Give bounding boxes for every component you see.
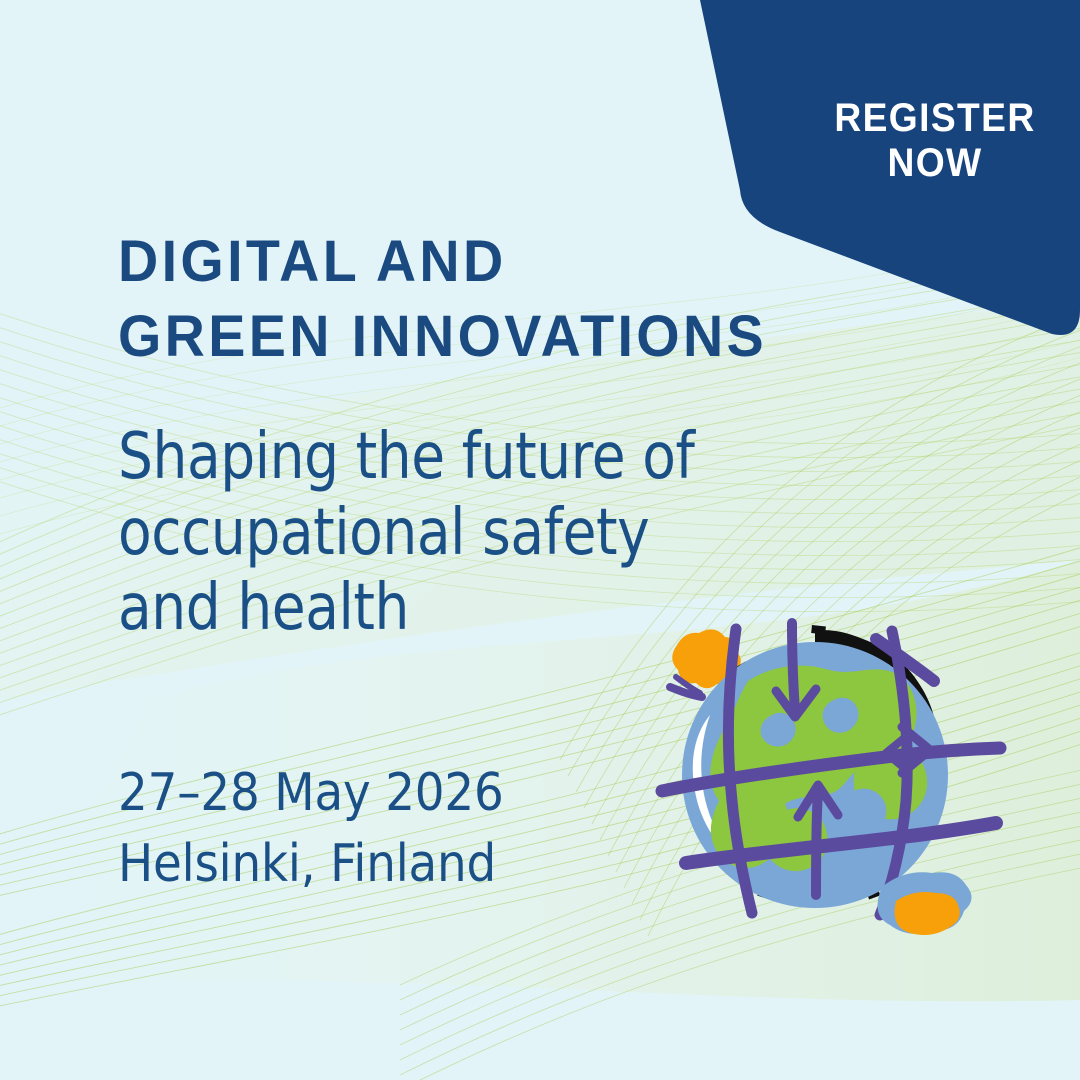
subtitle: Shaping the future of occupational safet… — [118, 420, 694, 647]
orange-splotch-bottom — [878, 872, 972, 935]
poster-canvas: REGISTER NOW DIGITAL AND GREEN INNOVATIO… — [0, 0, 1080, 1080]
subtitle-line-3: and health — [118, 571, 694, 647]
headline-line-1: DIGITAL AND — [118, 224, 767, 299]
headline-line-2: GREEN INNOVATIONS — [118, 299, 767, 374]
event-location: Helsinki, Finland — [118, 829, 504, 900]
event-date: 27–28 May 2026 — [118, 758, 504, 829]
text-content-block: DIGITAL AND GREEN INNOVATIONS Shaping th… — [118, 0, 878, 1080]
event-details: 27–28 May 2026 Helsinki, Finland — [118, 758, 504, 899]
page-title: DIGITAL AND GREEN INNOVATIONS — [118, 224, 767, 375]
subtitle-line-2: occupational safety — [118, 496, 694, 572]
subtitle-line-1: Shaping the future of — [118, 420, 694, 496]
